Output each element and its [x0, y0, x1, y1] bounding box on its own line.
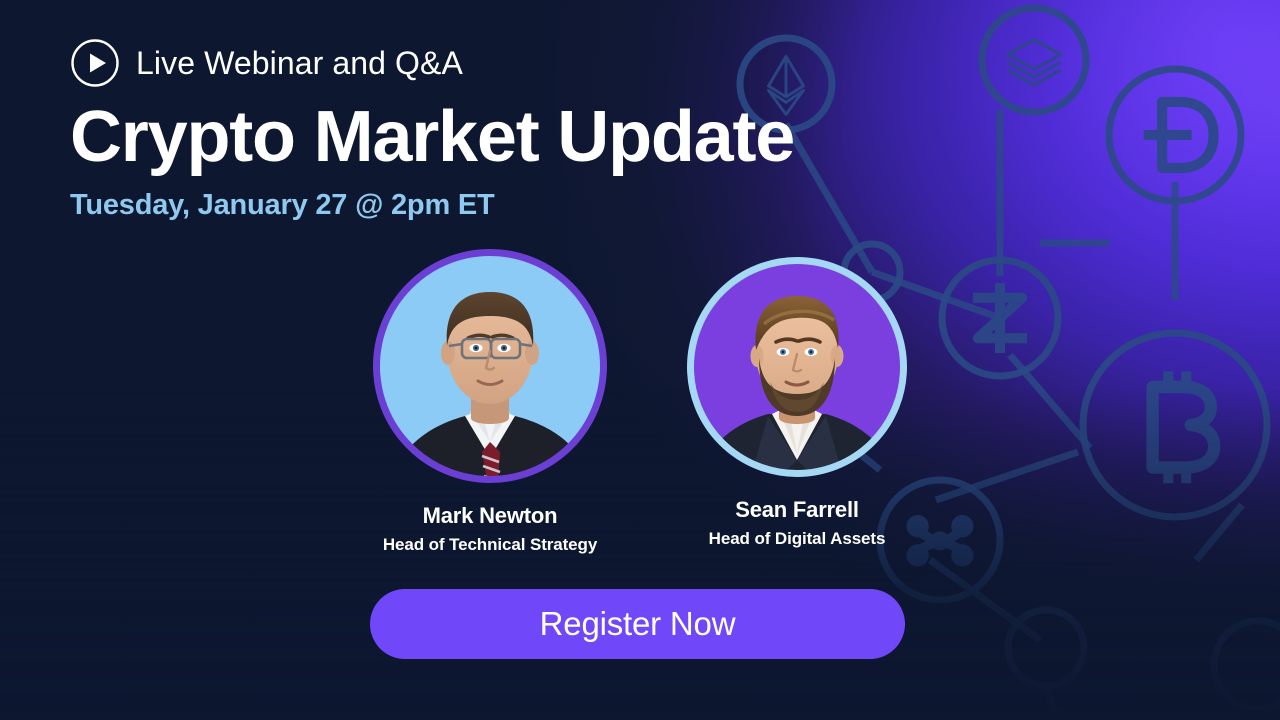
page-title: Crypto Market Update	[70, 100, 890, 175]
portrait-mark-newton	[370, 246, 610, 486]
play-circle-icon	[70, 38, 120, 88]
avatar	[370, 246, 610, 486]
speakers-row: Mark Newton Head of Technical Strategy	[370, 246, 910, 555]
speaker-sean-farrell: Sean Farrell Head of Digital Assets	[684, 246, 910, 549]
speaker-role: Head of Digital Assets	[709, 529, 886, 549]
eyebrow-row: Live Webinar and Q&A	[70, 38, 890, 88]
portrait-sean-farrell	[684, 254, 910, 480]
speaker-role: Head of Technical Strategy	[383, 535, 597, 555]
stacked-layers-node	[982, 8, 1086, 112]
speaker-name: Sean Farrell	[735, 497, 859, 523]
promo-banner: Live Webinar and Q&A Crypto Market Updat…	[0, 0, 1280, 720]
event-datetime: Tuesday, January 27 @ 2pm ET	[70, 189, 890, 222]
stacked-layers-icon	[1007, 40, 1060, 85]
speaker-name: Mark Newton	[423, 503, 558, 529]
eyebrow-label: Live Webinar and Q&A	[136, 45, 463, 82]
header-block: Live Webinar and Q&A Crypto Market Updat…	[70, 38, 890, 222]
register-now-button[interactable]: Register Now	[370, 589, 905, 659]
avatar	[684, 254, 910, 480]
zcash-icon	[978, 283, 1022, 353]
dogecoin-icon	[1144, 102, 1214, 168]
speaker-mark-newton: Mark Newton Head of Technical Strategy	[370, 246, 610, 555]
eyeglasses	[449, 339, 532, 358]
